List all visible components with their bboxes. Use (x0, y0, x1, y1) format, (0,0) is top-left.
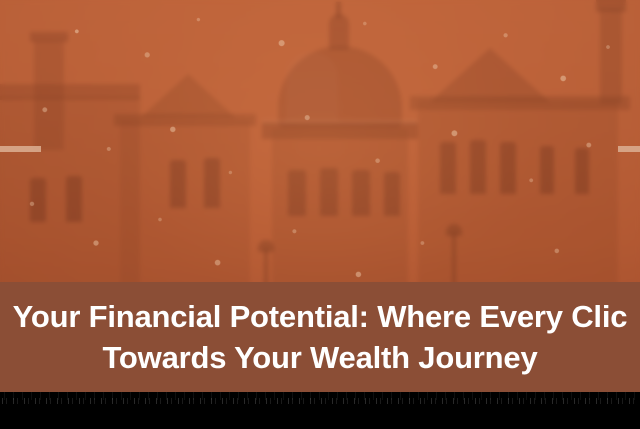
strip-noise-line (0, 398, 640, 404)
bottom-letterbox-strip (0, 392, 640, 429)
hero-caption-band: Your Financial Potential: Where Every Cl… (0, 282, 640, 392)
slider-prev-indicator[interactable] (0, 146, 41, 152)
hero-slider-screen: Your Financial Potential: Where Every Cl… (0, 0, 640, 429)
hero-headline-line-2: Towards Your Wealth Journey (102, 337, 537, 378)
hero-headline-line-1: Your Financial Potential: Where Every Cl… (13, 296, 628, 337)
slider-next-indicator[interactable] (618, 146, 640, 152)
